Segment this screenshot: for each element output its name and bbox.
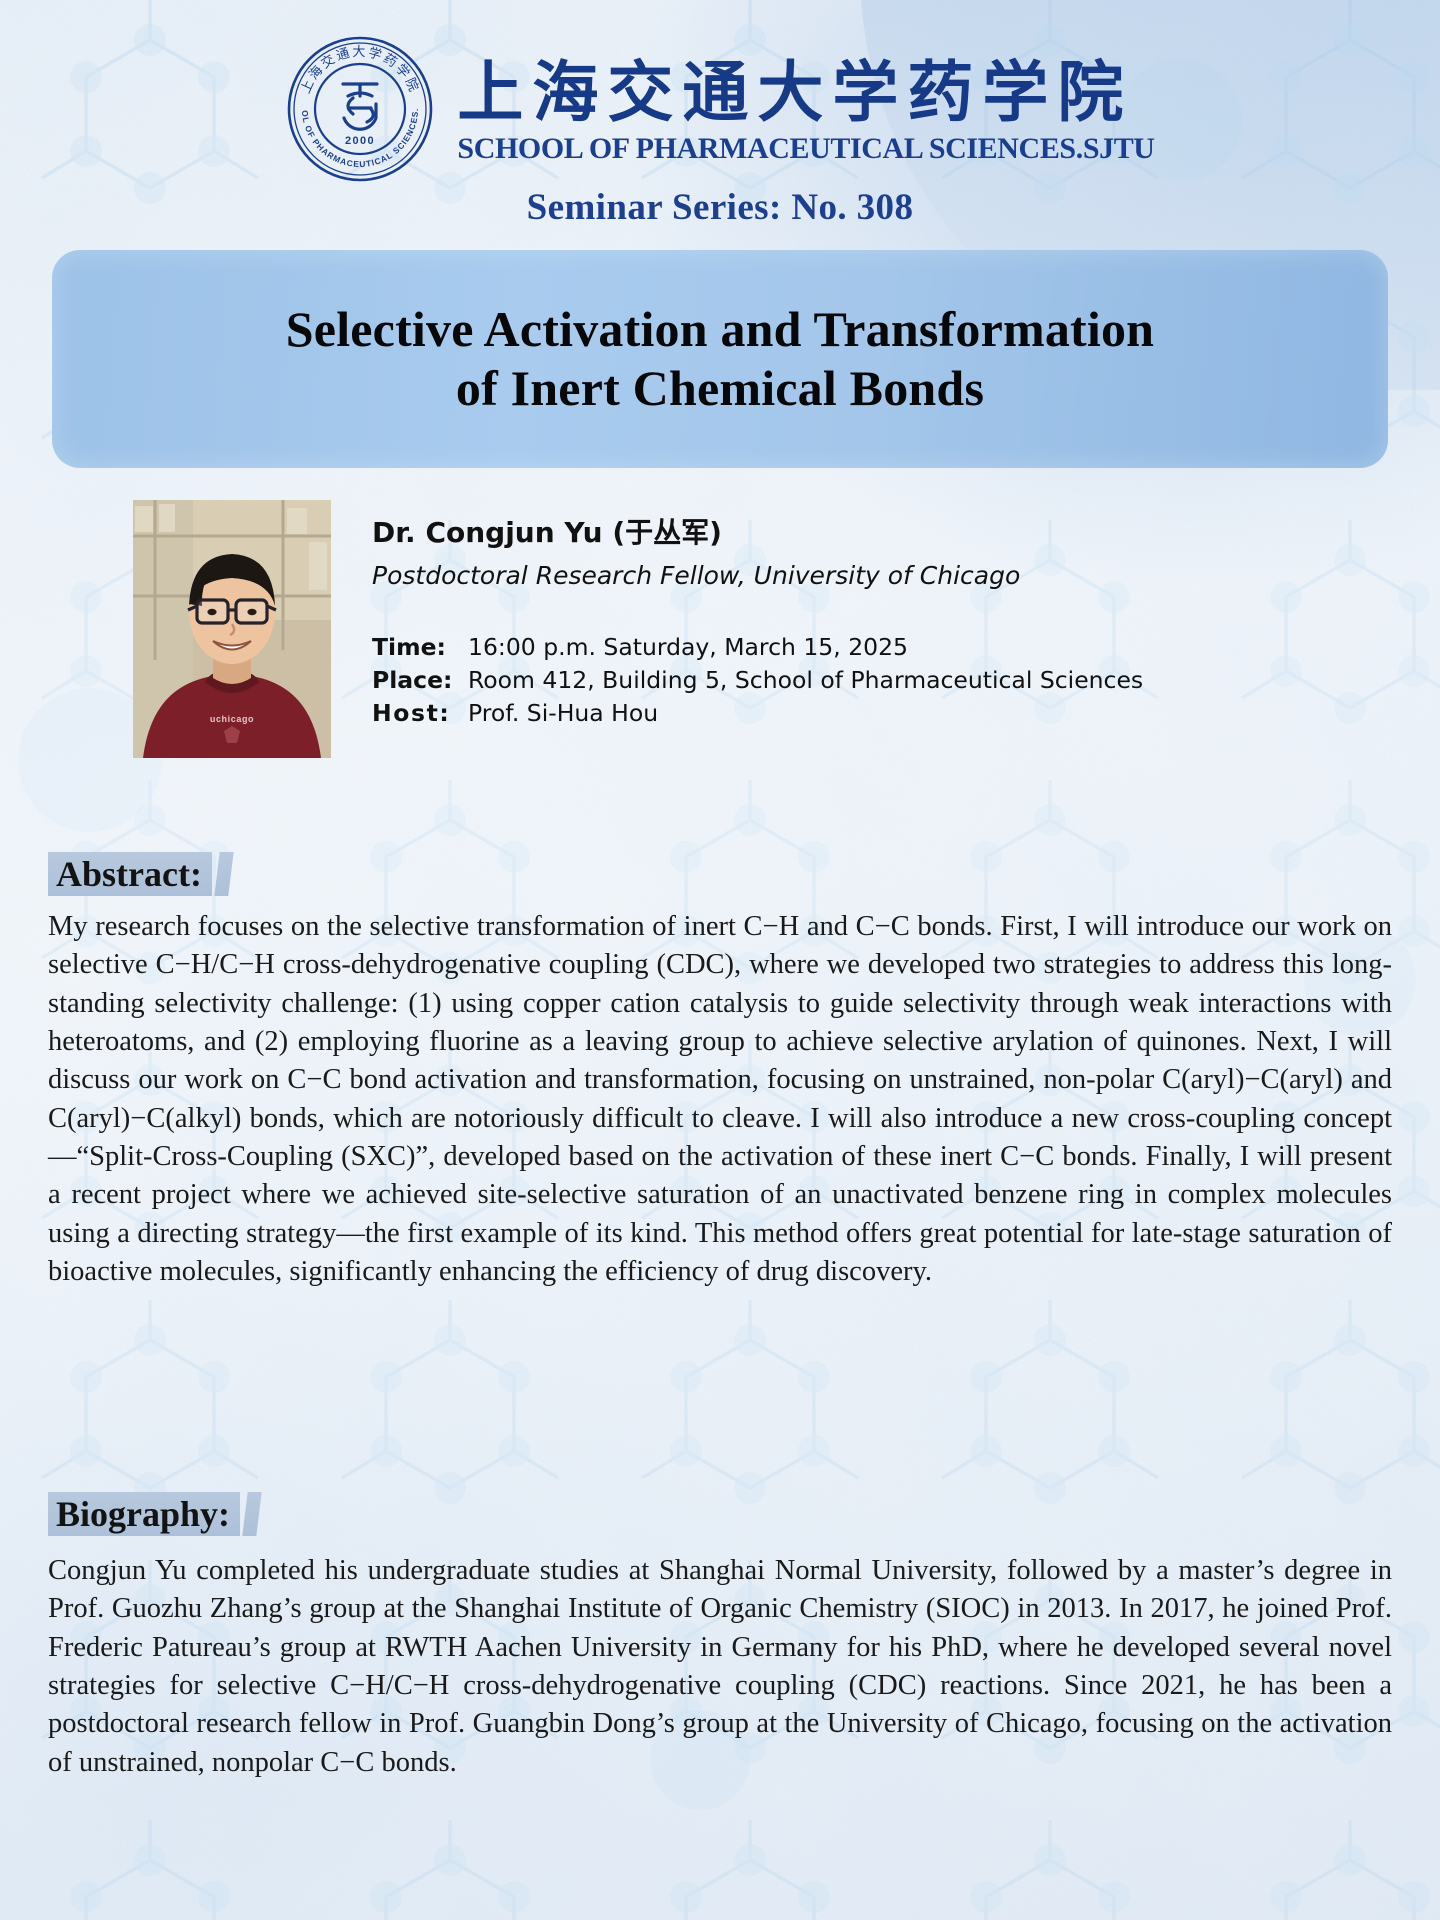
speaker-affiliation: Postdoctoral Research Fellow, University… [372, 561, 1380, 591]
poster-header: 上海交通大学药学院 SCHOOL OF PHARMACEUTICAL SCIEN… [0, 34, 1440, 184]
seminar-title-line2: of Inert Chemical Bonds [456, 360, 984, 416]
time-value: 16:00 p.m. Saturday, March 15, 2025 [468, 631, 1380, 664]
seminar-title-banner: Selective Activation and Transformation … [52, 250, 1388, 468]
place-label: Place: [372, 664, 468, 697]
logistics-row-host: Host: Prof. Si-Hua Hou [372, 697, 1380, 730]
abstract-heading-tick [214, 852, 233, 896]
time-label: Time: [372, 631, 468, 664]
school-name-english: SCHOOL OF PHARMACEUTICAL SCIENCES.SJTU [457, 133, 1154, 165]
speaker-name: Dr. Congjun Yu (于丛军) [372, 516, 1380, 550]
biography-heading-tick [242, 1492, 261, 1536]
seminar-logistics: Time: 16:00 p.m. Saturday, March 15, 202… [372, 631, 1380, 731]
biography-heading: Biography: [48, 1492, 259, 1536]
host-label: Host: [372, 697, 468, 730]
place-value: Room 412, Building 5, School of Pharmace… [468, 664, 1380, 697]
speaker-photo: uchicago [133, 500, 331, 758]
svg-text:2000: 2000 [345, 135, 375, 147]
seminar-series-number: Seminar Series: No. 308 [0, 186, 1440, 229]
abstract-heading-band: Abstract: [48, 852, 212, 896]
seminar-title: Selective Activation and Transformation … [262, 300, 1178, 418]
abstract-heading: Abstract: [48, 852, 231, 896]
host-value: Prof. Si-Hua Hou [468, 697, 1380, 730]
svg-text:uchicago: uchicago [210, 714, 254, 724]
speaker-details: Dr. Congjun Yu (于丛军) Postdoctoral Resear… [331, 500, 1380, 758]
logistics-row-time: Time: 16:00 p.m. Saturday, March 15, 202… [372, 631, 1380, 664]
abstract-body: My research focuses on the selective tra… [48, 908, 1392, 1291]
biography-heading-band: Biography: [48, 1492, 240, 1536]
sjtu-school-seal-logo: 上海交通大学药学院 SCHOOL OF PHARMACEUTICAL SCIEN… [285, 34, 435, 184]
abstract-heading-label: Abstract: [56, 856, 202, 892]
school-name-chinese: 上海交通大学药学院 [457, 57, 1132, 128]
school-wordmark: 上海交通大学药学院 SCHOOL OF PHARMACEUTICAL SCIEN… [457, 57, 1154, 165]
biography-heading-label: Biography: [56, 1496, 230, 1532]
speaker-block: uchicago Dr. Congjun Yu (于丛军) Postdoctor… [133, 500, 1380, 758]
biography-body: Congjun Yu completed his undergraduate s… [48, 1552, 1392, 1782]
logistics-row-place: Place: Room 412, Building 5, School of P… [372, 664, 1380, 697]
seminar-title-line1: Selective Activation and Transformation [286, 301, 1154, 357]
